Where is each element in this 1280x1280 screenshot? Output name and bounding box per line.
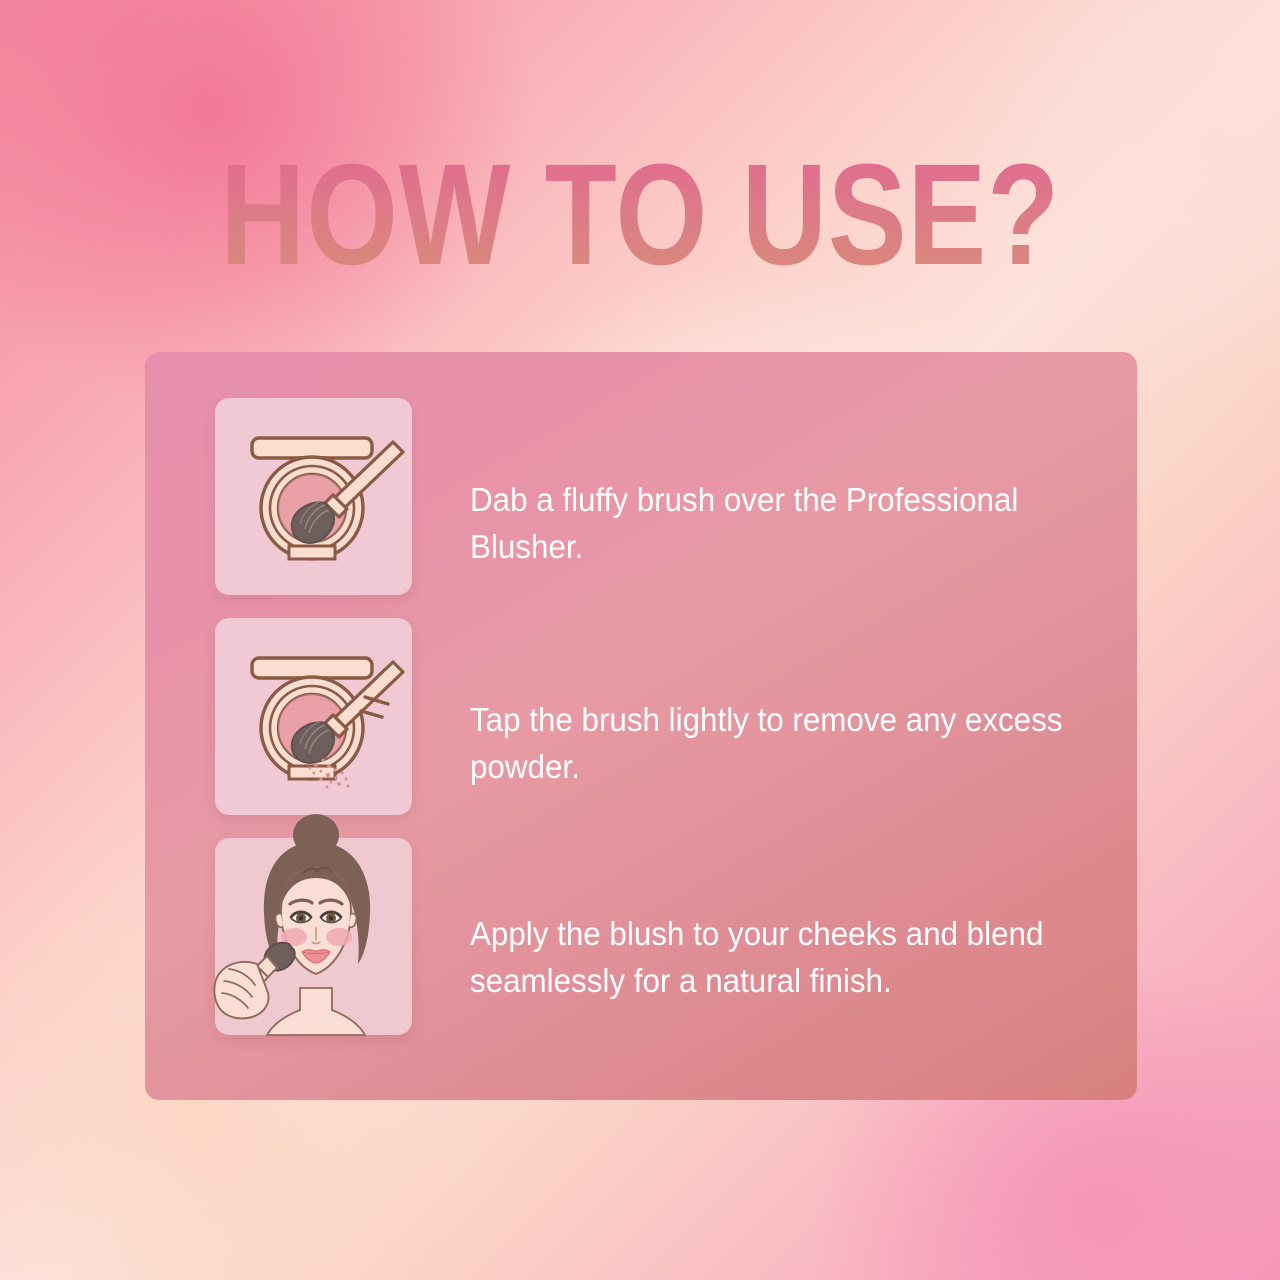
step-2-text: Tap the brush lightly to remove any exce… — [470, 696, 1078, 790]
page-title: HOW TO USE? — [115, 150, 1165, 280]
blush-compact-tapping-brush-icon — [215, 618, 412, 815]
step-3-icon-card — [215, 838, 412, 1035]
step-1-text: Dab a fluffy brush over the Professional… — [470, 476, 1078, 570]
step-2-icon-card — [215, 618, 412, 815]
woman-applying-blush-icon — [215, 838, 412, 1035]
step-1-icon-card — [215, 398, 412, 595]
steps-panel: Dab a fluffy brush over the Professional… — [145, 352, 1137, 1100]
step-3-text: Apply the blush to your cheeks and blend… — [470, 910, 1078, 1004]
blush-compact-with-brush-icon — [215, 398, 412, 595]
how-to-use-infographic: HOW TO USE? — [0, 0, 1280, 1280]
step-row-2: Tap the brush lightly to remove any exce… — [145, 618, 1137, 830]
step-row-3: Apply the blush to your cheeks and blend… — [145, 838, 1137, 1054]
step-row-1: Dab a fluffy brush over the Professional… — [145, 398, 1137, 610]
